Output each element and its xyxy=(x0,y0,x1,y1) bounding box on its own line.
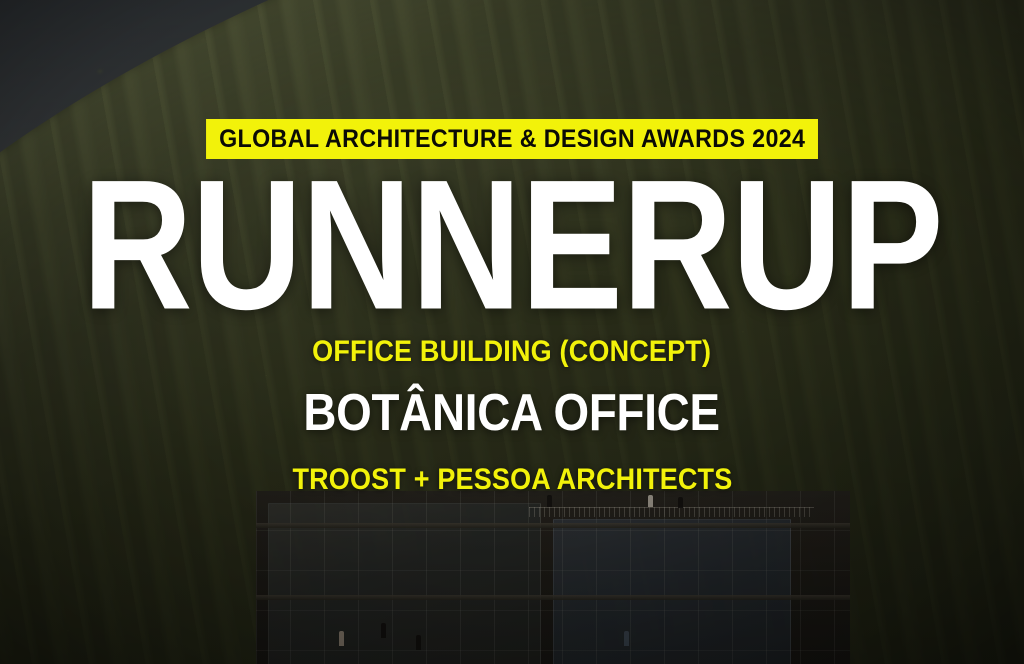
award-poster: GLOBAL ARCHITECTURE & DESIGN AWARDS 2024… xyxy=(0,0,1024,664)
poster-text-stack: GLOBAL ARCHITECTURE & DESIGN AWARDS 2024… xyxy=(0,0,1024,664)
project-name: BOTÂNICA OFFICE xyxy=(304,387,720,439)
project-category: OFFICE BUILDING (CONCEPT) xyxy=(313,337,712,367)
architecture-firm: TROOST + PESSOA ARCHITECTS xyxy=(292,465,732,495)
award-headline: RUNNERUP xyxy=(82,160,943,330)
